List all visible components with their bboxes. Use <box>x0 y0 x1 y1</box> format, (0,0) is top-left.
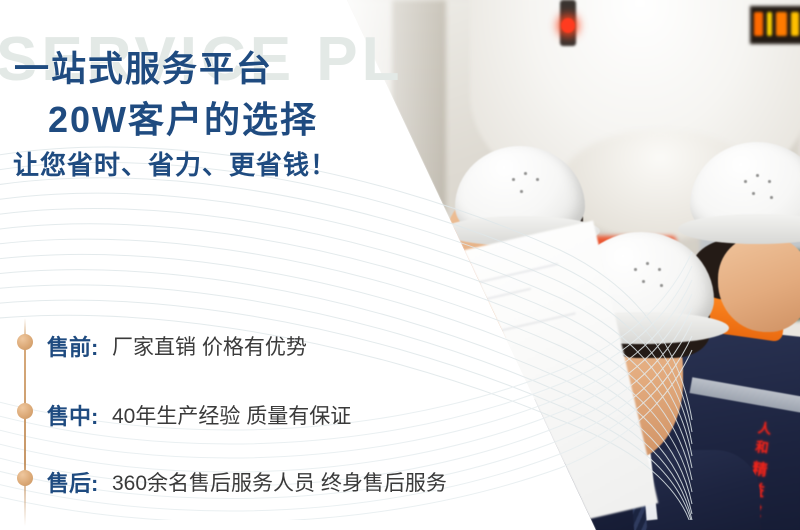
service-label-presale: 售前: <box>47 330 98 362</box>
service-text-presale: 厂家直销 价格有优势 <box>112 331 307 361</box>
service-text-during-sale: 40年生产经验 质量有保证 <box>112 400 351 430</box>
worker-hand-lower <box>382 296 446 350</box>
service-banner: 人和 精益求精 <box>0 0 800 530</box>
service-label-during-sale: 售中: <box>47 399 98 431</box>
service-bullet-icon <box>17 334 33 350</box>
service-bullet-icon <box>17 403 33 419</box>
service-text-aftersale: 360余名售后服务人员 终身售后服务 <box>112 467 447 497</box>
service-bullet-icon <box>17 470 33 486</box>
service-label-aftersale: 售后: <box>47 466 98 498</box>
headline-line-1: 一站式服务平台 <box>14 41 273 92</box>
headline-line-3: 让您省时、省力、更省钱！ <box>13 145 337 182</box>
headline-line-2: 20W客户的选择 <box>48 91 318 143</box>
worker-hand-upper <box>320 232 378 272</box>
wrapped-equipment <box>324 252 486 387</box>
